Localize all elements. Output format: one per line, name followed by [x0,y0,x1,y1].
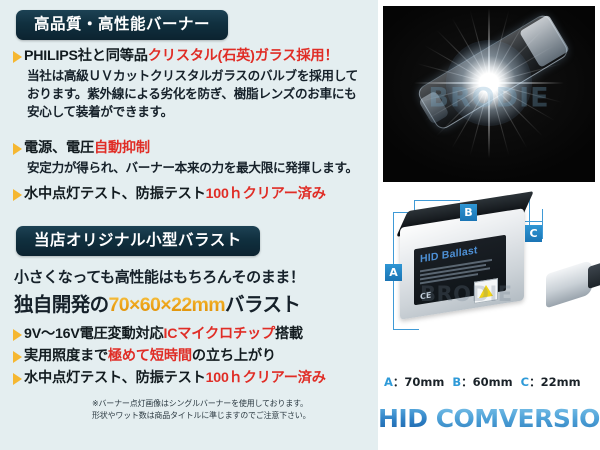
ballast-bullet-1-heading: 9V～16V電圧変動対応ICマイクロチップ搭載 [24,326,303,342]
triangle-bullet-icon [13,329,22,341]
burner-section-header: 高品質・高性能バーナー [0,10,228,40]
ballast-subline-1: 小さくなっても高性能はもちろんそのまま！ [14,266,305,287]
ballast-bullet-1-head-accent: ICマイクロチップ [164,326,275,342]
brand-logo-part-1: HID [378,404,427,433]
ballast-bullet-2-head-plain-1: 実用照度まで [24,348,108,364]
ballast-subline-2-suffix: バラスト [225,294,300,316]
dimension-badge-b: B [460,204,477,221]
triangle-bullet-icon [13,373,22,385]
legend-value-c: ：22mm [529,375,580,389]
dimension-legend: A：70mm B：60mm C：22mm [384,374,581,390]
guide-line-c [525,221,543,222]
ballast-bullet-2: 実用照度まで極めて短時間の立ち上がり [13,348,371,364]
guide-line-c-right [542,209,543,239]
burner-bullet-2-head-plain: 電源、電圧 [24,140,94,156]
ballast-dimension-diagram: HID Ballast CE BRODIE A B C [378,188,600,368]
right-media-column: BRODIE HID Ballast [378,0,600,450]
triangle-bullet-icon [13,351,22,363]
burner-bullet-2-heading: 電源、電圧自動抑制 [24,140,150,156]
hid-bulb-photo: BRODIE [383,6,595,182]
ballast-bullet-2-head-accent: 極めて短時間 [108,348,192,364]
burner-bullet-3-head-plain: 水中点灯テスト、防振テスト [24,186,206,202]
burner-bullet-2-head-accent: 自動抑制 [94,140,150,156]
ballast-bullet-2-head-plain-2: の立ち上がり [192,348,276,364]
burner-bullet-3: 水中点灯テスト、防振テスト100ｈクリアー済み [13,186,371,202]
ballast-subline-2: 独自開発の70×60×22mmバラスト [14,288,300,317]
burner-bullet-3-head-accent: 100ｈクリアー済み [206,186,326,202]
burner-bullet-1-head-accent: クリスタル(石英)ガラス採用！ [148,48,339,64]
bulb-base [519,14,570,68]
ballast-connector [546,260,592,309]
legend-value-b: ：60mm [461,375,512,389]
guide-line-a [393,212,394,264]
ballast-bullet-3-head-accent: 100ｈクリアー済み [206,370,326,386]
left-content-column: 高品質・高性能バーナー PHILIPS社と同等品クリスタル(石英)ガラス採用！ … [0,0,378,450]
burner-heading-label: 高品質・高性能バーナー [16,10,228,40]
burner-bullet-2: 電源、電圧自動抑制 [13,140,371,156]
burner-bullet-1-body-line-2: おります。紫外線による劣化を防ぎ、樹脂レンズのお車にも [27,86,356,104]
burner-bullet-2-body-line-1: 安定力が得られ、バーナー本来の力を最大限に発揮します。 [27,160,358,178]
burner-bullet-1-head-plain: PHILIPS社と同等品 [24,48,148,64]
legend-value-a: ：70mm [393,375,444,389]
brand-logo-part-2: COMVERSION KIT [427,404,600,433]
dimension-badge-c: C [525,225,542,242]
photo-watermark: BRODIE [428,82,549,113]
triangle-bullet-icon [13,143,22,155]
legend-key-a: A [384,375,393,389]
burner-bullet-1: PHILIPS社と同等品クリスタル(石英)ガラス採用！ [13,48,371,64]
ballast-bullet-2-heading: 実用照度まで極めて短時間の立ち上がり [24,348,276,364]
brand-logo: HID COMVERSION KIT [378,404,600,433]
connector-tip [588,262,600,289]
guide-line-a-bottom [393,329,419,330]
disclaimer-note: ※バーナー点灯画像はシングルバーナーを使用しております。 形状やワット数は商品タ… [92,398,310,422]
guide-line-a [393,281,394,329]
disclaimer-line-1: ※バーナー点灯画像はシングルバーナーを使用しております。 [92,398,310,410]
legend-key-c: C [521,375,529,389]
triangle-bullet-icon [13,189,22,201]
ballast-heading-label: 当店オリジナル小型バラスト [16,226,260,256]
burner-bullet-1-body-line-1: 当社は高級ＵＶカットクリスタルガラスのバルブを採用して [27,68,358,86]
ballast-bullet-3-heading: 水中点灯テスト、防振テスト100ｈクリアー済み [24,370,326,386]
ballast-bullet-3: 水中点灯テスト、防振テスト100ｈクリアー済み [13,370,371,386]
ballast-bullet-1-head-plain-1: 9V～16V電圧変動対応 [24,326,164,342]
dimension-badge-a: A [385,264,402,281]
disclaimer-line-2: 形状やワット数は商品タイトルに準じますのでご注意下さい。 [92,410,310,422]
legend-key-b: B [452,375,461,389]
ballast-section-header: 当店オリジナル小型バラスト [0,226,260,256]
burner-bullet-3-heading: 水中点灯テスト、防振テスト100ｈクリアー済み [24,186,326,202]
guide-line-b-right [529,200,530,226]
ballast-bullet-1-head-plain-2: 搭載 [275,326,303,342]
ballast-subline-2-prefix: 独自開発の [14,294,109,316]
ballast-dimension-text: 70×60×22mm [109,294,226,316]
advertisement-page: 高品質・高性能バーナー PHILIPS社と同等品クリスタル(石英)ガラス採用！ … [0,0,600,450]
ballast-bullet-1: 9V～16V電圧変動対応ICマイクロチップ搭載 [13,326,371,342]
guide-line-b [414,200,460,201]
diagram-watermark: BRODIE [420,282,513,306]
burner-bullet-1-body-line-3: 安心して装着ができます。 [27,104,173,122]
ballast-bullet-3-head-plain-1: 水中点灯テスト、防振テスト [24,370,206,386]
burner-bullet-1-heading: PHILIPS社と同等品クリスタル(石英)ガラス採用！ [24,48,338,64]
triangle-bullet-icon [13,51,22,63]
